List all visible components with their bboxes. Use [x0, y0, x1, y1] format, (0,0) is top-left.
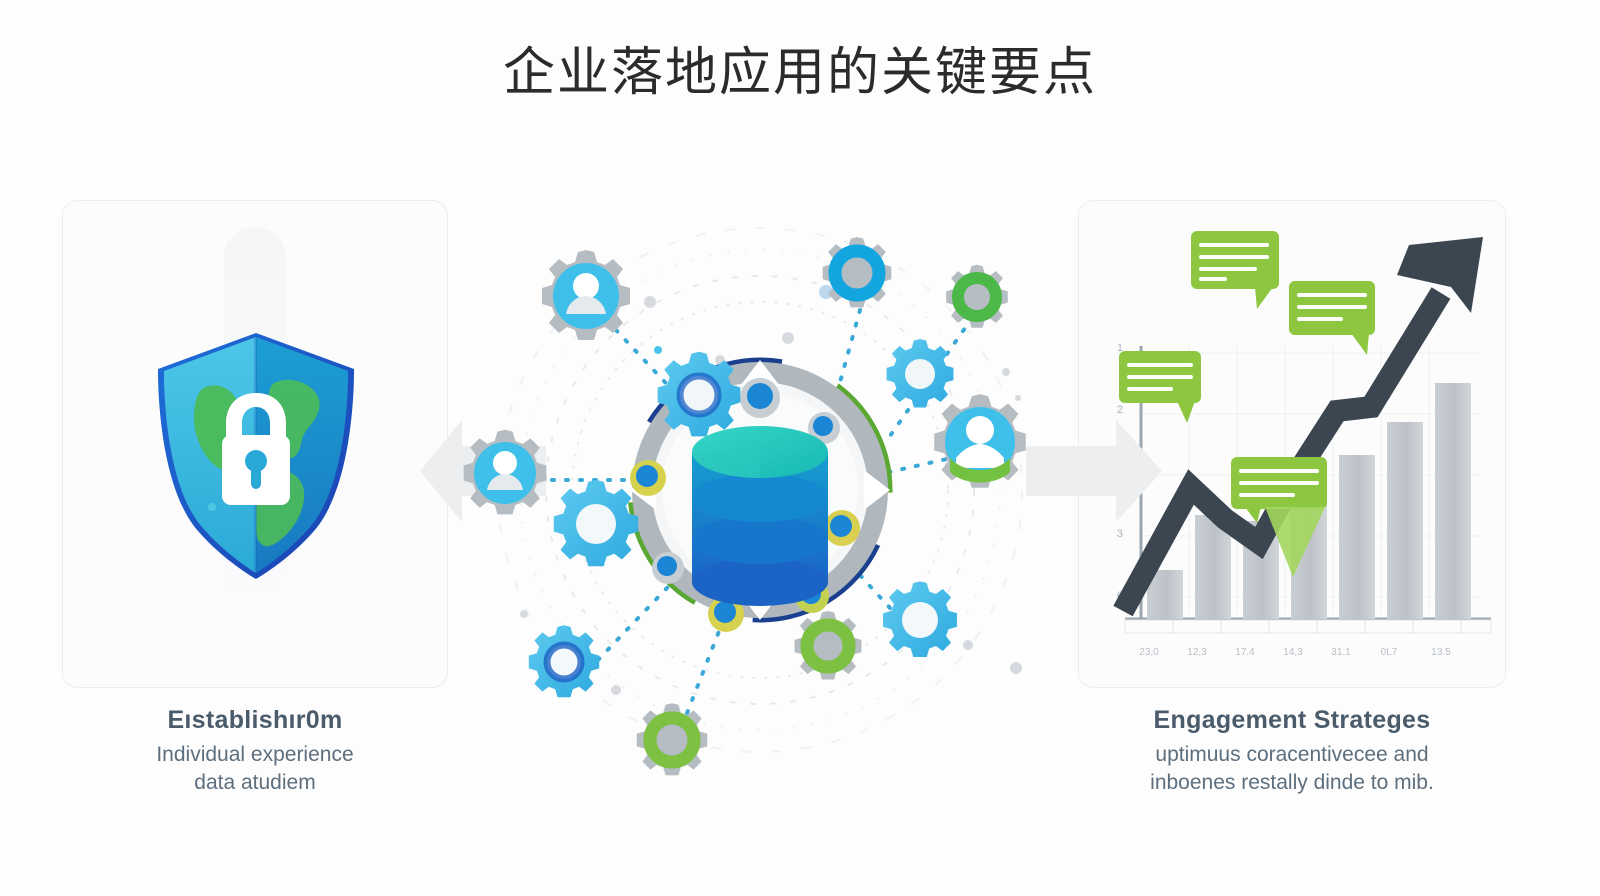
gear-ring-icon-bottom-middle [795, 611, 862, 679]
x-tick-2: 17.4 [1235, 647, 1255, 658]
shield-globe-lock-icon [150, 331, 362, 581]
speech-bubble-icon-1 [1191, 231, 1279, 309]
left-panel-card [62, 200, 448, 688]
chart-x-tick-labels: 23,0 12,3 17.4 14,3 31.1 0L7 13.5 [1139, 647, 1451, 658]
gear-solid-icon-lower-left [554, 480, 638, 566]
x-tick-5: 0L7 [1381, 647, 1398, 658]
x-tick-4: 31.1 [1331, 647, 1351, 658]
left-caption-line-1: Individual experience [62, 741, 448, 769]
gear-user-green-icon-right [934, 394, 1026, 488]
pin-3 [824, 510, 860, 546]
speech-bubble-icon-2 [1289, 281, 1375, 355]
gear-solid-icon-right [887, 339, 954, 407]
x-tick-0: 23,0 [1139, 647, 1159, 658]
gear-user-icon-left [464, 430, 547, 515]
right-caption-title: Engagement Strateges [1078, 706, 1506, 735]
gear-ring-icon-top-right [946, 265, 1008, 328]
pin-7 [630, 460, 666, 496]
right-caption-line-2: inboenes restally dinde to mib. [1078, 769, 1506, 797]
gear-ring-icon-top-center [823, 237, 892, 307]
x-tick-1: 12,3 [1187, 647, 1207, 658]
right-caption-line-1: uptimuus coracentivecee and [1078, 741, 1506, 769]
pin-1 [740, 378, 780, 418]
right-panel-caption: Engagement Strateges uptimuus coracentiv… [1078, 706, 1506, 798]
bar-6 [1435, 383, 1471, 619]
connected-network-hub [420, 190, 1100, 790]
left-caption-line-2: data atudiem [62, 769, 448, 797]
page-title: 企业落地应用的关键要点 [0, 42, 1600, 104]
gear-ring-icon-bottom [637, 703, 707, 775]
gear-user-icon-top-left [542, 250, 630, 340]
database-cylinder-icon [692, 426, 828, 606]
chart-x-tickboxes [1125, 620, 1491, 633]
gear-solid-icon-bottom-right [883, 581, 957, 657]
bar-4 [1339, 455, 1375, 619]
gear-solid-icon-bottom-left [529, 625, 599, 697]
gear-solid-icon-upper-mid [658, 352, 741, 437]
x-tick-3: 14,3 [1283, 647, 1303, 658]
pin-6 [652, 552, 684, 584]
left-panel-caption: Eıstablishır0m Individual experience dat… [62, 706, 448, 798]
bar-5 [1387, 422, 1423, 619]
x-tick-6: 13.5 [1431, 647, 1451, 658]
left-caption-title: Eıstablishır0m [62, 706, 448, 735]
